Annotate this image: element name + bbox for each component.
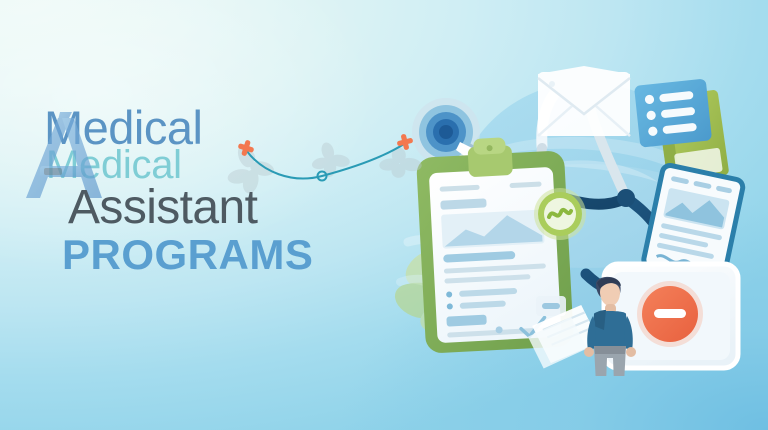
envelope [538, 66, 630, 136]
pulse-badge [534, 188, 586, 240]
headline-block: Medical Medical Assistant PROGRAMS [44, 104, 424, 278]
banner: Medical Medical Assistant PROGRAMS [0, 0, 768, 430]
flower-right-icon [379, 146, 423, 179]
checklist-card [634, 78, 712, 147]
minus-badge [637, 281, 703, 347]
headline-line-3: Assistant [68, 182, 424, 234]
medical-assistant-illustration [390, 46, 768, 376]
note-icon [536, 296, 566, 316]
headline-line-4: PROGRAMS [62, 232, 424, 278]
